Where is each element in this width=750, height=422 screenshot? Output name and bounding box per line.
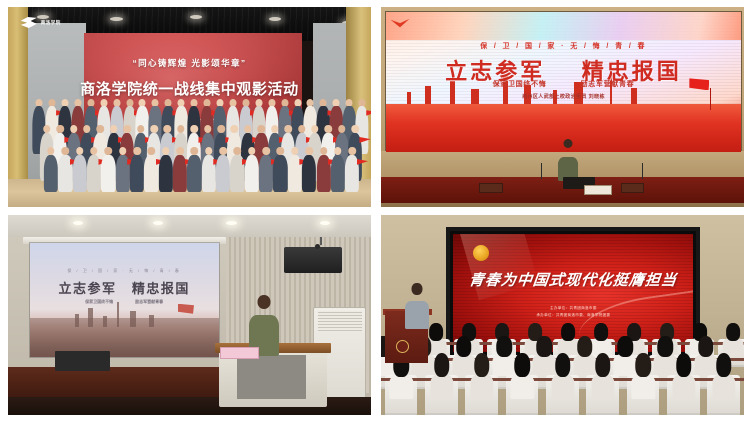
slide-building [130,311,136,327]
audience-member [471,353,493,397]
school-logo-label: 商洛学院 [41,20,61,26]
slide-subtitles: 保家卫国终不悔 励志军营献青春 [30,299,219,305]
audience-head [726,323,740,340]
school-logo-icon [21,17,37,28]
ceiling [8,215,371,237]
audience-shoulders [390,374,413,400]
audience-member [713,353,735,397]
slide-building [149,315,154,328]
ceiling-light [226,221,237,225]
audience-member [673,353,695,397]
audience-head [555,353,571,378]
slide-tagline: 保 / 卫 / 国 / 家 · 无 / 悔 / 青 / 春 [30,268,219,274]
audience-member [512,353,534,397]
banner-subtitles: 保家卫国终不悔 励志军营献青春 [386,79,742,89]
projection-screen: 保 / 卫 / 国 / 家 · 无 / 悔 / 青 / 春 立志参军 精忠报国 … [30,243,219,357]
audience-shoulders [632,374,655,400]
banner-sub-left: 保家卫国终不悔 [493,79,547,89]
led-banner-screen: 保 / 卫 / 国 / 家 · 无 / 悔 / 青 / 春 立志参军 精忠报国 … [385,11,743,153]
audience-head [474,353,490,378]
audience-shoulders [672,374,695,400]
photo-collage-grid: 商洛学院 “同心铸辉煌 光影颂华章” 商洛学院统一战线集中观影活动 2024年9… [0,0,750,422]
slide-headline-right: 精忠报国 [132,281,190,296]
audience-head [698,336,714,357]
audience-head [658,336,674,357]
desk-nameplate [479,183,503,193]
panel-bottom-left-projector: 保 / 卫 / 国 / 家 · 无 / 悔 / 青 / 春 立志参军 精忠报国 … [8,215,371,415]
audience-head [636,353,652,378]
group-photo-crowd [8,95,371,195]
audience-head [434,353,450,378]
microphone-icon [541,163,542,179]
audience-seating [381,215,744,415]
audience-member [633,353,655,397]
banner-sub-right: 励志军营献青春 [580,79,634,89]
audience-shoulders [712,374,735,400]
banner-byline: 商州区人武部上校政治委员 刘晓栋 [386,93,742,100]
nameplate [220,347,258,359]
microphone-icon [642,163,643,179]
audience-head [595,353,611,378]
audience-member [552,353,574,397]
audience-shoulders [511,374,534,400]
swoosh-icon [389,18,411,30]
air-conditioner-grill [318,311,362,331]
projector-icon [284,247,342,273]
stage-front [8,367,233,399]
ceiling-light [190,15,202,19]
audience-head [716,353,732,378]
audience-head [515,353,531,378]
slide-building [75,314,79,328]
projector-mount [320,237,322,245]
screen-quote-line: “同心铸辉煌 光影颂华章” [8,57,371,69]
slide-headline-left: 立志参军 [58,281,116,296]
audience-head [537,336,553,357]
officer-speaker [233,295,295,355]
speaker-presenter [399,283,435,327]
slide-sub-right: 励志军营献青春 [135,299,163,305]
lectern-front-panel [237,355,306,399]
audience-member [592,353,614,397]
panel-top-left-group-photo: 商洛学院 “同心铸辉煌 光影颂华章” 商洛学院统一战线集中观影活动 2024年9… [8,7,371,207]
audience-shoulders [551,374,574,400]
banner-gradient-top [386,12,742,40]
banner-tagline: 保 / 卫 / 国 / 家 · 无 / 悔 / 青 / 春 [386,41,742,51]
person [342,147,363,195]
audience-member [723,323,742,354]
panel-top-right-led-banner: 保 / 卫 / 国 / 家 · 无 / 悔 / 青 / 春 立志参军 精忠报国 … [381,7,744,207]
slide-headline: 立志参军 精忠报国 [30,278,219,297]
school-logo: 商洛学院 [21,17,61,28]
audience-head [456,336,472,357]
audience-head [577,336,593,357]
panel-bottom-right-audience: 青春为中国式现代化挺膺担当 主办单位：共青团商洛市委 承办单位：共青团商洛市委、… [381,215,744,415]
slide-building [103,316,107,327]
audience-head [594,323,608,340]
audience-head [617,336,633,357]
audience-head [676,353,692,378]
desk-nameplate [584,185,611,195]
slide-flag-icon [178,304,194,314]
audience-shoulders [470,374,493,400]
school-seal-icon [396,340,409,353]
audience-head [561,323,575,340]
ceiling-light [110,17,123,21]
audience-head [496,336,512,357]
flag-pole [710,88,711,110]
audience-shoulders [430,374,453,400]
audience-shoulders [591,374,614,400]
monitor-icon [55,351,109,371]
slide-tower [117,302,119,327]
audience-member [431,353,453,397]
desk-nameplate [621,183,645,193]
slide-sub-left: 保家卫国终不悔 [85,299,113,305]
speaker-officer [552,139,585,179]
slide-building [88,308,93,327]
